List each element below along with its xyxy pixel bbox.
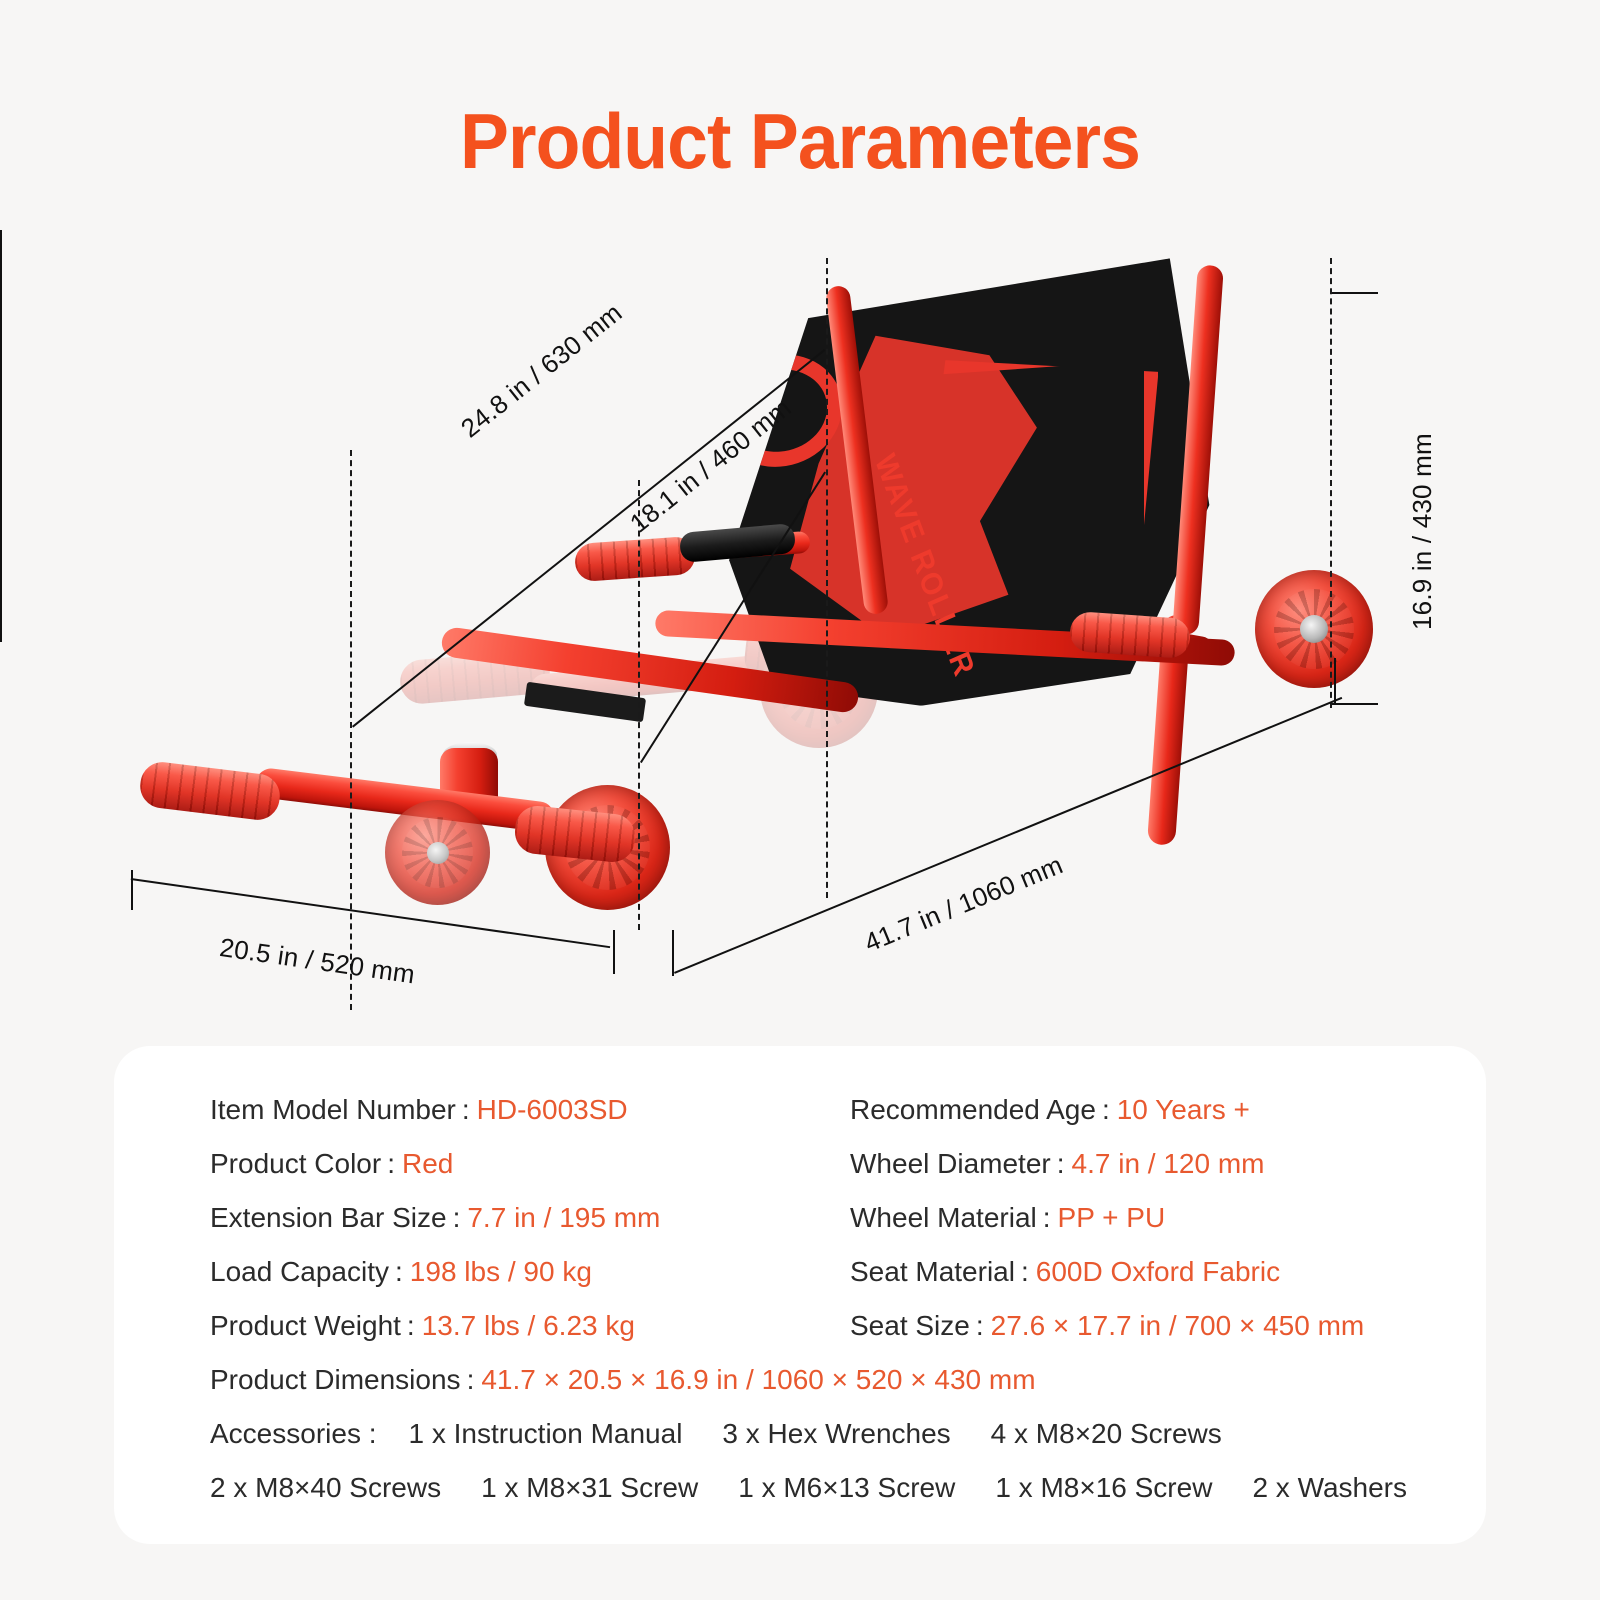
guide-line-right bbox=[1330, 258, 1332, 708]
spec-separator: : bbox=[461, 1364, 482, 1396]
spec-separator: : bbox=[456, 1094, 477, 1125]
spec-separator: : bbox=[1037, 1202, 1058, 1233]
spec-row: Extension Bar Size:7.7 in / 195 mm Wheel… bbox=[210, 1202, 1420, 1256]
spec-separator: : bbox=[1051, 1148, 1072, 1179]
spec-separator: : bbox=[447, 1202, 468, 1233]
spec-cell: Item Model Number:HD-6003SD bbox=[210, 1094, 850, 1126]
spec-value: Red bbox=[402, 1148, 453, 1179]
spec-value: 13.7 lbs / 6.23 kg bbox=[422, 1310, 635, 1341]
spec-separator: : bbox=[401, 1310, 422, 1341]
spec-value: 7.7 in / 195 mm bbox=[467, 1202, 660, 1233]
spec-separator: : bbox=[1096, 1094, 1117, 1125]
spec-label: Seat Material bbox=[850, 1256, 1015, 1287]
spec-cell: Wheel Material:PP + PU bbox=[850, 1202, 1410, 1234]
dim-tick-1060-left bbox=[672, 930, 674, 976]
spec-cell: Product Color:Red bbox=[210, 1148, 850, 1180]
product-illustration: MADE IN CHINA صنع في الصين WAVE ROLLER bbox=[0, 230, 1600, 1030]
dim-tick-430-bottom bbox=[1332, 703, 1378, 705]
spec-value: HD-6003SD bbox=[477, 1094, 628, 1125]
spec-label: Recommended Age bbox=[850, 1094, 1096, 1125]
specifications-grid: Item Model Number:HD-6003SD Recommended … bbox=[210, 1094, 1420, 1526]
made-in-china-label: MADE IN CHINA bbox=[701, 303, 784, 320]
guide-line-left bbox=[350, 450, 352, 1010]
spec-value: 10 Years + bbox=[1117, 1094, 1250, 1125]
spec-cell: Load Capacity:198 lbs / 90 kg bbox=[210, 1256, 850, 1288]
accessory-item: 3 x Hex Wrenches bbox=[722, 1418, 950, 1450]
rear-wheel bbox=[1255, 570, 1373, 688]
footrest-peg-right bbox=[1069, 611, 1191, 659]
spec-label: Extension Bar Size bbox=[210, 1202, 447, 1233]
rear-wheel-hub bbox=[1300, 615, 1328, 643]
spec-row: Product Color:Red Wheel Diameter:4.7 in … bbox=[210, 1148, 1420, 1202]
spec-label: Product Color bbox=[210, 1148, 381, 1179]
upper-handle-grip bbox=[574, 536, 696, 582]
accessory-item: 1 x M6×13 Screw bbox=[738, 1472, 955, 1504]
spec-label: Wheel Material bbox=[850, 1202, 1037, 1233]
accessory-item: 1 x Instruction Manual bbox=[409, 1418, 683, 1450]
accessory-item: 1 x M8×16 Screw bbox=[995, 1472, 1212, 1504]
spec-value: 198 lbs / 90 kg bbox=[410, 1256, 592, 1287]
spec-row: Item Model Number:HD-6003SD Recommended … bbox=[210, 1094, 1420, 1148]
spec-separator: : bbox=[1015, 1256, 1036, 1287]
accessory-item: 2 x Washers bbox=[1252, 1472, 1407, 1504]
guide-line-seat-front bbox=[826, 258, 828, 898]
spec-value: PP + PU bbox=[1058, 1202, 1166, 1233]
front-wheel-left bbox=[385, 800, 490, 905]
accessory-item: 2 x M8×40 Screws bbox=[210, 1472, 441, 1504]
page-title: Product Parameters bbox=[48, 96, 1552, 187]
accessories-row-1: Accessories : 1 x Instruction Manual 3 x… bbox=[210, 1418, 1420, 1472]
spec-label: Product Weight bbox=[210, 1310, 401, 1341]
product-diagram: MADE IN CHINA صنع في الصين WAVE ROLLER bbox=[0, 230, 1600, 1030]
specifications-card: Item Model Number:HD-6003SD Recommended … bbox=[114, 1046, 1486, 1544]
dim-tick-520-left bbox=[131, 870, 133, 910]
dim-label-430: 16.9 in / 430 mm bbox=[1407, 433, 1438, 630]
dim-tick-1060-right bbox=[1334, 658, 1336, 704]
spec-label: Wheel Diameter bbox=[850, 1148, 1051, 1179]
dim-tick-520-right bbox=[613, 930, 615, 974]
spec-label: Seat Size bbox=[850, 1310, 970, 1341]
accessory-item: 1 x M8×31 Screw bbox=[481, 1472, 698, 1504]
spec-row-dimensions: Product Dimensions:41.7 × 20.5 × 16.9 in… bbox=[210, 1364, 1420, 1418]
guide-line-mid bbox=[638, 480, 640, 930]
spec-cell: Recommended Age:10 Years + bbox=[850, 1094, 1410, 1126]
spec-cell: Seat Size:27.6 × 17.7 in / 700 × 450 mm bbox=[850, 1310, 1410, 1342]
front-handlebar-grip bbox=[138, 760, 283, 823]
warning-sticker bbox=[524, 682, 646, 722]
spec-label: Item Model Number bbox=[210, 1094, 456, 1125]
front-wheel-left-hub bbox=[427, 842, 449, 864]
accessories-row-2: 2 x M8×40 Screws 1 x M8×31 Screw 1 x M6×… bbox=[210, 1472, 1420, 1526]
spec-cell: Extension Bar Size:7.7 in / 195 mm bbox=[210, 1202, 850, 1234]
spec-row: Product Weight:13.7 lbs / 6.23 kg Seat S… bbox=[210, 1310, 1420, 1364]
spec-value: 27.6 × 17.7 in / 700 × 450 mm bbox=[991, 1310, 1365, 1341]
accessory-item: 4 x M8×20 Screws bbox=[991, 1418, 1222, 1450]
spec-separator: : bbox=[381, 1148, 402, 1179]
dim-tick-430-top bbox=[1332, 292, 1378, 294]
made-in-china-label-arabic: صنع في الصين bbox=[718, 324, 785, 342]
spec-label: Product Dimensions bbox=[210, 1364, 461, 1396]
spec-row: Load Capacity:198 lbs / 90 kg Seat Mater… bbox=[210, 1256, 1420, 1310]
spec-separator: : bbox=[389, 1256, 410, 1287]
spec-value: 600D Oxford Fabric bbox=[1036, 1256, 1280, 1287]
spec-cell: Seat Material:600D Oxford Fabric bbox=[850, 1256, 1410, 1288]
spec-cell: Product Weight:13.7 lbs / 6.23 kg bbox=[210, 1310, 850, 1342]
spec-value: 4.7 in / 120 mm bbox=[1072, 1148, 1265, 1179]
spec-label: Load Capacity bbox=[210, 1256, 389, 1287]
accessories-label: Accessories : bbox=[210, 1418, 377, 1450]
spec-value: 41.7 × 20.5 × 16.9 in / 1060 × 520 × 430… bbox=[481, 1364, 1035, 1396]
spec-separator: : bbox=[970, 1310, 991, 1341]
spec-cell: Wheel Diameter:4.7 in / 120 mm bbox=[850, 1148, 1410, 1180]
